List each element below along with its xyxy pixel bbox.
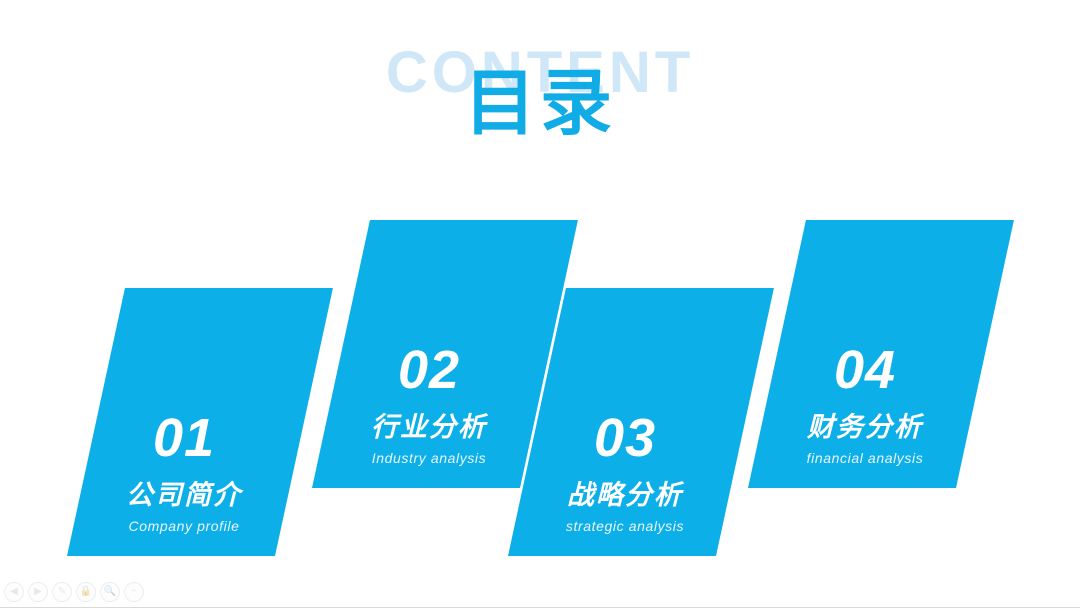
agenda-card-04-number: 04	[834, 343, 896, 397]
agenda-card-01-title-en: Company profile	[129, 519, 240, 534]
agenda-card-03[interactable]: 03 战略分析 strategic analysis	[508, 288, 774, 556]
agenda-card-04[interactable]: 04 财务分析 financial analysis	[748, 220, 1014, 488]
agenda-card-02-title-cn: 行业分析	[371, 413, 487, 443]
agenda-card-01-number: 01	[153, 411, 215, 465]
pen-icon[interactable]: ✎	[52, 582, 72, 602]
agenda-card-01-content: 01 公司简介 Company profile	[67, 288, 275, 556]
agenda-card-02-content: 02 行业分析 Industry analysis	[312, 220, 520, 488]
slide-title-block: CONTENT 目录	[0, 0, 1080, 170]
agenda-card-03-title-cn: 战略分析	[567, 481, 683, 511]
agenda-card-02-title-en: Industry analysis	[372, 451, 486, 466]
page-title: 目录	[0, 68, 1080, 140]
viewer-toolbar[interactable]: ◀ ▶ ✎ 🔒 🔍 −	[4, 581, 144, 603]
agenda-card-03-content: 03 战略分析 strategic analysis	[508, 288, 716, 556]
previous-icon[interactable]: ◀	[4, 582, 24, 602]
agenda-card-04-content: 04 财务分析 financial analysis	[748, 220, 956, 488]
zoom-out-icon[interactable]: −	[124, 582, 144, 602]
agenda-card-04-title-en: financial analysis	[807, 451, 924, 466]
agenda-card-02-number: 02	[398, 343, 460, 397]
play-icon[interactable]: ▶	[28, 582, 48, 602]
agenda-card-03-title-en: strategic analysis	[566, 519, 684, 534]
zoom-in-icon[interactable]: 🔍	[100, 582, 120, 602]
agenda-card-04-title-cn: 财务分析	[807, 413, 923, 443]
agenda-card-01[interactable]: 01 公司简介 Company profile	[67, 288, 333, 556]
lock-icon[interactable]: 🔒	[76, 582, 96, 602]
agenda-card-01-title-cn: 公司简介	[126, 481, 242, 511]
presentation-slide: CONTENT 目录 01 公司简介 Company profile 02 行业…	[0, 0, 1080, 608]
agenda-card-03-number: 03	[594, 411, 656, 465]
